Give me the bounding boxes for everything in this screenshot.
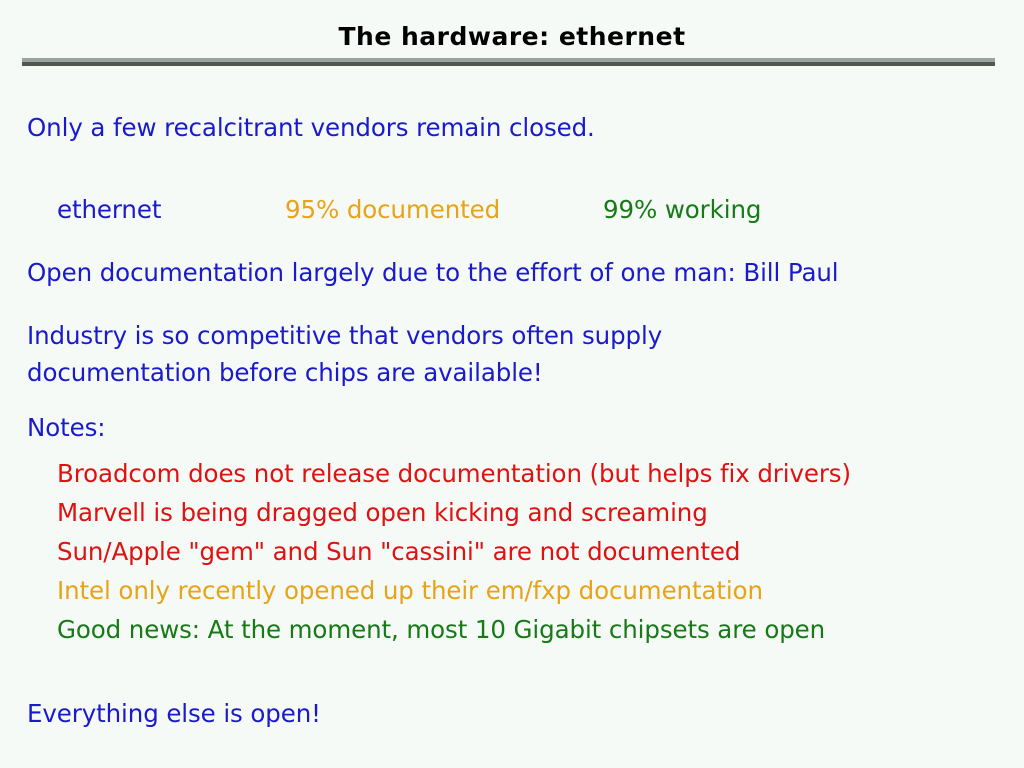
intro-text: Only a few recalcitrant vendors remain c… [27,108,595,147]
status-row-documented: 95% documented [285,190,500,229]
note-item-sun-apple: Sun/Apple "gem" and Sun "cassini" are no… [57,532,740,571]
open-documentation-text: Open documentation largely due to the ef… [27,253,839,292]
closing-text: Everything else is open! [27,694,321,733]
status-row-working: 99% working [603,190,761,229]
slide-body: Only a few recalcitrant vendors remain c… [0,0,1024,768]
note-item-intel: Intel only recently opened up their em/f… [57,571,763,610]
status-row-subject: ethernet [57,190,161,229]
industry-text-line-1: Industry is so competitive that vendors … [27,316,662,355]
note-item-marvell: Marvell is being dragged open kicking an… [57,493,708,532]
industry-text-line-2: documentation before chips are available… [27,353,543,392]
note-item-good-news: Good news: At the moment, most 10 Gigabi… [57,610,825,649]
slide: The hardware: ethernet Only a few recalc… [0,0,1024,768]
notes-heading: Notes: [27,408,105,447]
note-item-broadcom: Broadcom does not release documentation … [57,454,851,493]
